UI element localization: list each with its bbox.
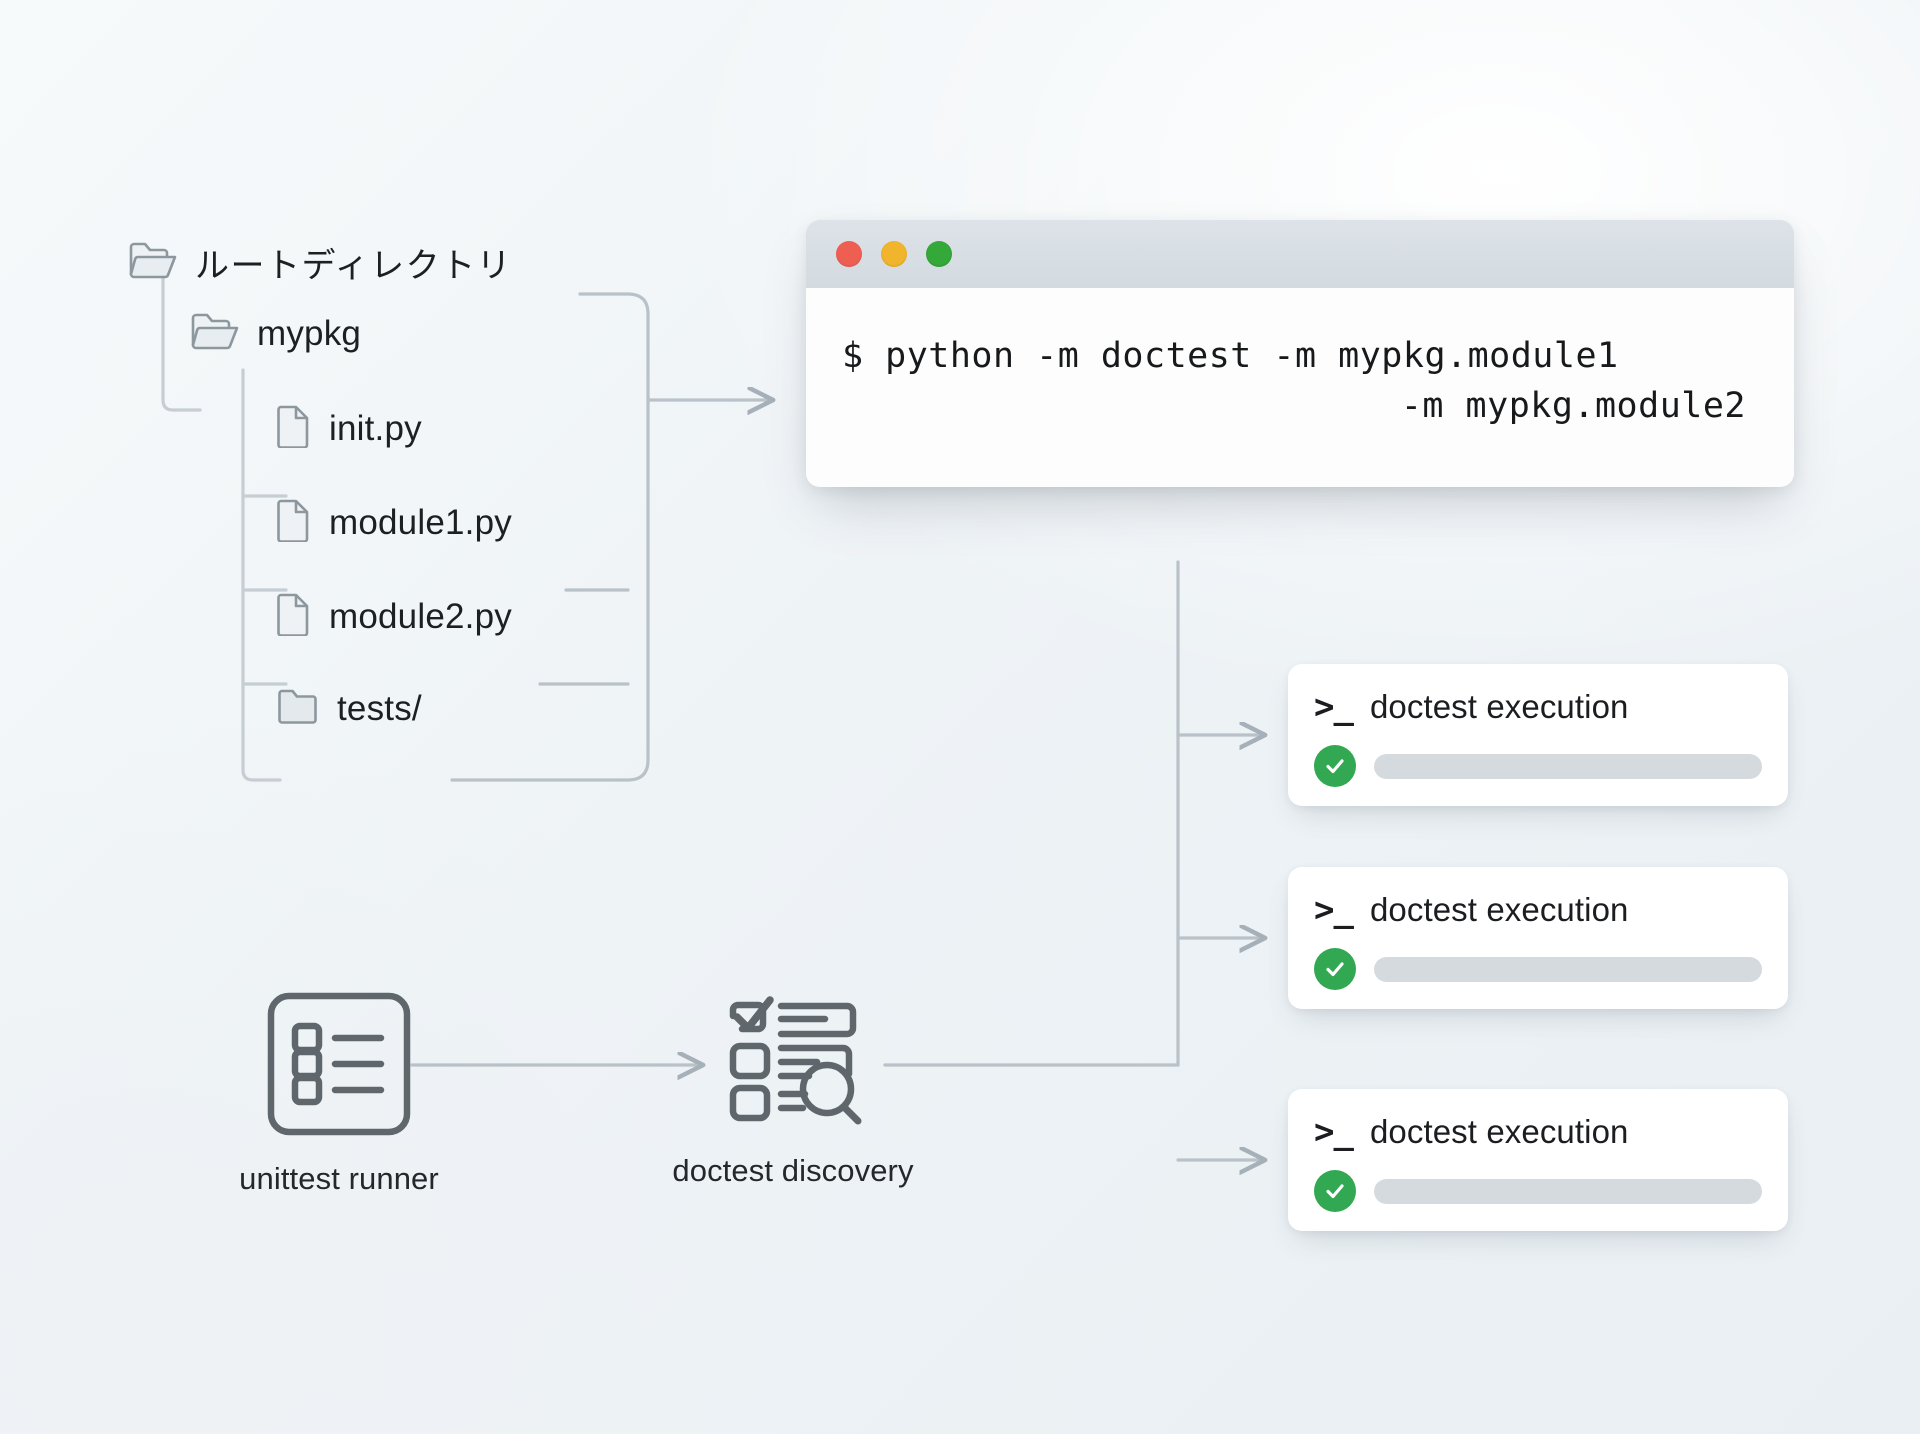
tree-row[interactable]: ルートディレクトリ (128, 238, 512, 287)
unittest-runner-label: unittest runner (194, 1161, 484, 1197)
terminal-prompt-icon: >_ (1314, 893, 1353, 927)
diagram-canvas: ルートディレクトリ mypkg init.py (0, 0, 1920, 1434)
doctest-discovery-node[interactable]: doctest discovery (628, 990, 958, 1189)
terminal-command-line-2: -m mypkg.module2 (842, 382, 1754, 432)
card-progress-row (1314, 1170, 1762, 1212)
doctest-result-card[interactable]: >_ doctest execution (1288, 1089, 1788, 1231)
folder-open-icon (190, 310, 240, 357)
file-icon (276, 592, 312, 641)
terminal-titlebar (806, 220, 1794, 288)
doctest-result-card[interactable]: >_ doctest execution (1288, 867, 1788, 1009)
file-icon (276, 404, 312, 453)
card-title: doctest execution (1370, 688, 1629, 726)
checklist-box-icon (265, 1125, 413, 1142)
tree-item-label: module2.py (329, 597, 512, 637)
card-header: >_ doctest execution (1314, 891, 1762, 929)
card-title: doctest execution (1370, 891, 1629, 929)
card-progress-row (1314, 948, 1762, 990)
terminal-command-line-1: $ python -m doctest -m mypkg.module1 (842, 332, 1754, 382)
progress-bar (1374, 957, 1762, 982)
card-title: doctest execution (1370, 1113, 1629, 1151)
tree-row[interactable]: module2.py (276, 592, 512, 641)
minimize-button[interactable] (881, 241, 907, 267)
card-header: >_ doctest execution (1314, 688, 1762, 726)
tree-item-label: tests/ (337, 689, 422, 729)
terminal-window[interactable]: $ python -m doctest -m mypkg.module1 -m … (806, 220, 1794, 487)
tree-item-label: mypkg (257, 314, 361, 354)
file-icon (276, 498, 312, 547)
tree-row[interactable]: module1.py (276, 498, 512, 547)
card-progress-row (1314, 745, 1762, 787)
tree-row[interactable]: init.py (276, 404, 422, 453)
doctest-result-card[interactable]: >_ doctest execution (1288, 664, 1788, 806)
tree-item-label: module1.py (329, 503, 512, 543)
maximize-button[interactable] (926, 241, 952, 267)
tree-row[interactable]: tests/ (276, 686, 422, 731)
success-check-icon (1314, 1170, 1356, 1212)
tree-item-label: ルートディレクトリ (195, 238, 512, 287)
checklist-search-icon (723, 1117, 863, 1134)
doctest-discovery-label: doctest discovery (628, 1153, 958, 1189)
close-button[interactable] (836, 241, 862, 267)
unittest-runner-node[interactable]: unittest runner (194, 990, 484, 1197)
terminal-body[interactable]: $ python -m doctest -m mypkg.module1 -m … (806, 288, 1794, 487)
success-check-icon (1314, 948, 1356, 990)
progress-bar (1374, 1179, 1762, 1204)
folder-open-icon (128, 239, 178, 286)
progress-bar (1374, 754, 1762, 779)
tree-row[interactable]: mypkg (190, 310, 361, 357)
card-header: >_ doctest execution (1314, 1113, 1762, 1151)
folder-closed-icon (276, 686, 320, 731)
success-check-icon (1314, 745, 1356, 787)
terminal-prompt-icon: >_ (1314, 690, 1353, 724)
tree-item-label: init.py (329, 409, 422, 449)
terminal-prompt-icon: >_ (1314, 1115, 1353, 1149)
